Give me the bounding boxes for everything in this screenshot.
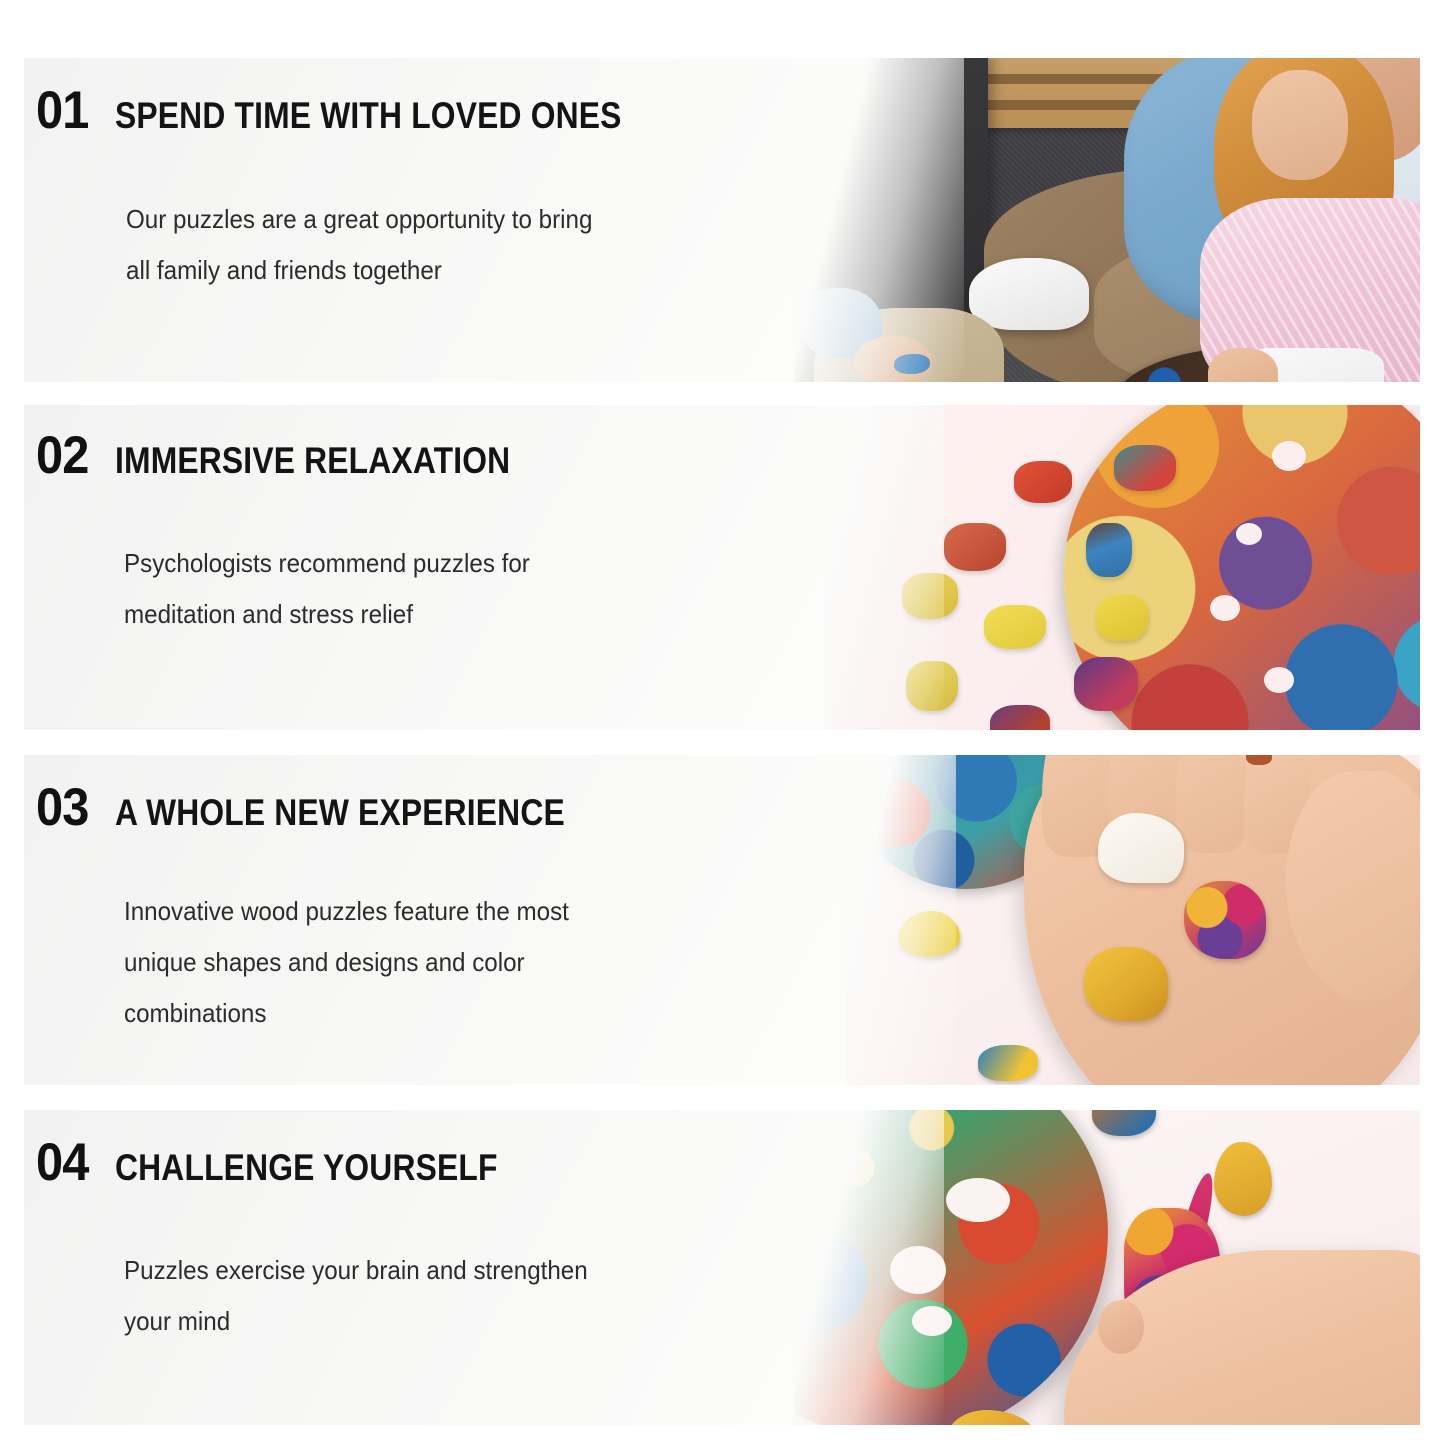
piece-gold-leaf: [1214, 1142, 1272, 1216]
feature-02-heading: 02 IMMERSIVE RELAXATION: [36, 429, 575, 482]
piece-blue-bird: [1086, 523, 1132, 577]
puzzle-hole-1: [946, 1178, 1010, 1222]
piece-yellow-star: [1096, 595, 1148, 641]
fingertip: [1098, 1300, 1144, 1354]
feature-02-title: IMMERSIVE RELAXATION: [115, 442, 510, 479]
puzzle-hole-3: [1210, 595, 1240, 621]
piece-blue-yellow: [978, 1045, 1038, 1081]
piece-dinosaur: [990, 705, 1050, 730]
feature-list-infographic: 01 SPEND TIME WITH LOVED ONES Our puzzle…: [0, 0, 1445, 1445]
feature-01-body: Our puzzles are a great opportunity to b…: [126, 194, 664, 296]
piece-colorful-elephant: [1184, 881, 1266, 959]
image-left-fade: [846, 755, 956, 1085]
feature-03-title: A WHOLE NEW EXPERIENCE: [115, 794, 565, 831]
woman-figure: [1204, 58, 1420, 382]
feature-04-body: Puzzles exercise your brain and strength…: [124, 1245, 588, 1347]
feature-panel-01: 01 SPEND TIME WITH LOVED ONES Our puzzle…: [24, 58, 1420, 382]
feature-04-title: CHALLENGE YOURSELF: [115, 1149, 498, 1186]
feature-01-text: 01 SPEND TIME WITH LOVED ONES Our puzzle…: [24, 58, 704, 296]
feature-01-heading: 01 SPEND TIME WITH LOVED ONES: [36, 84, 704, 137]
feature-03-image: [846, 755, 1420, 1085]
piece-red-bird: [1014, 461, 1072, 503]
image-left-fade: [794, 1110, 944, 1425]
feature-panel-04: 04 CHALLENGE YOURSELF Puzzles exercise y…: [24, 1110, 1420, 1425]
feature-04-heading: 04 CHALLENGE YOURSELF: [36, 1136, 623, 1189]
piece-yellow-lion: [1084, 947, 1168, 1021]
puzzle-hole-2: [1236, 523, 1262, 545]
feature-04-text: 04 CHALLENGE YOURSELF Puzzles exercise y…: [24, 1110, 623, 1347]
feature-01-number: 01: [36, 84, 88, 137]
feature-04-number: 04: [36, 1136, 88, 1189]
image-left-fade: [824, 405, 944, 730]
ring-finger: [1176, 755, 1248, 853]
image-left-fade: [794, 58, 964, 382]
piece-purple-cat: [1074, 657, 1138, 711]
piece-snail: [1114, 445, 1176, 491]
white-sneaker: [969, 258, 1089, 330]
feature-02-number: 02: [36, 429, 88, 482]
piece-yellow-leaf: [984, 605, 1046, 649]
feature-03-text: 03 A WHOLE NEW EXPERIENCE Innovative woo…: [24, 755, 638, 1039]
puzzle-hole-4: [1264, 667, 1294, 693]
piece-red-dog: [944, 523, 1006, 571]
feature-02-image: [824, 405, 1420, 730]
piece-white-dolphin: [1098, 813, 1184, 883]
feature-01-image: [794, 58, 1420, 382]
feature-01-title: SPEND TIME WITH LOVED ONES: [115, 97, 622, 134]
feature-03-number: 03: [36, 781, 88, 834]
feature-03-heading: 03 A WHOLE NEW EXPERIENCE: [36, 781, 638, 834]
feature-04-image: [794, 1110, 1420, 1425]
feature-panel-03: 03 A WHOLE NEW EXPERIENCE Innovative woo…: [24, 755, 1420, 1085]
feature-03-body: Innovative wood puzzles feature the most…: [124, 886, 602, 1039]
feature-panel-02: 02 IMMERSIVE RELAXATION Psychologists re…: [24, 405, 1420, 730]
puzzle-hole-1: [1272, 441, 1306, 471]
feature-02-text: 02 IMMERSIVE RELAXATION Psychologists re…: [24, 405, 575, 640]
woman-face: [1252, 70, 1348, 180]
feature-02-body: Psychologists recommend puzzles for medi…: [124, 538, 543, 640]
